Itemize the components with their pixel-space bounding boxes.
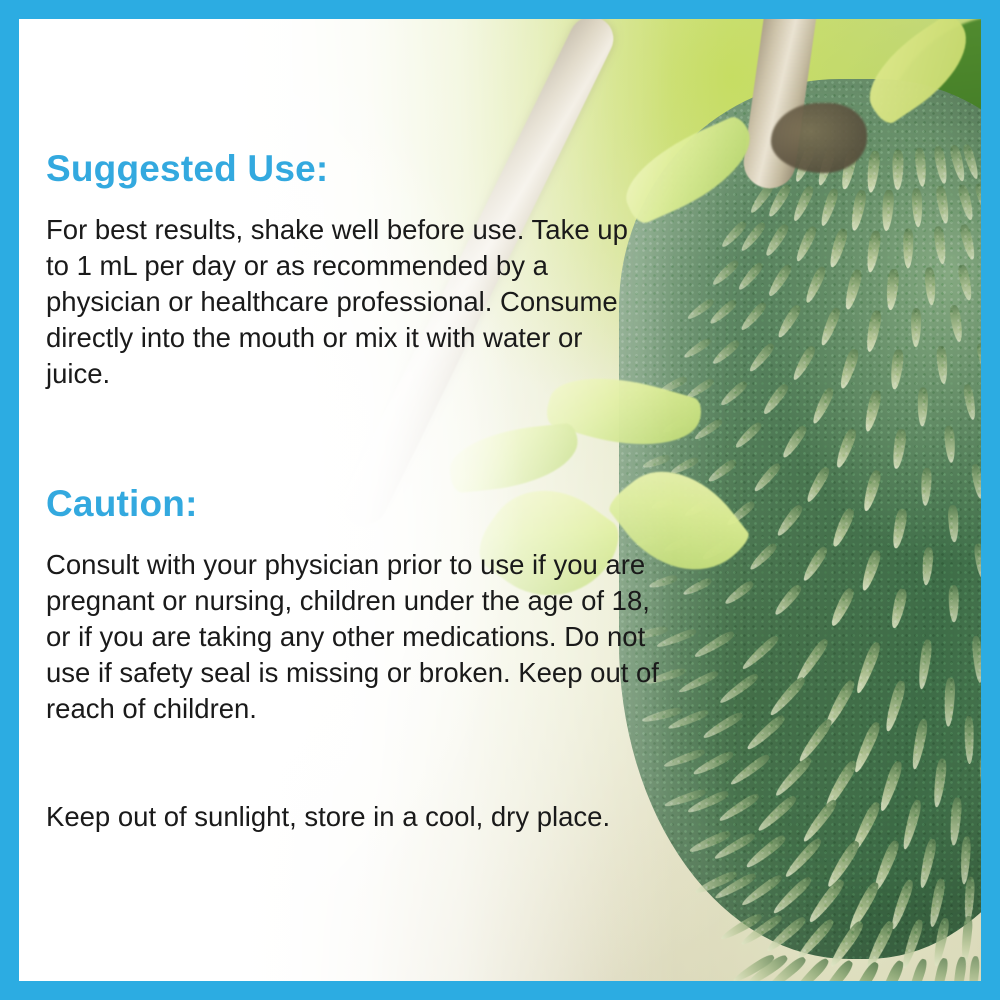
suggested-use-heading: Suggested Use: <box>46 150 328 189</box>
caution-heading: Caution: <box>46 485 198 524</box>
label-copy-block: Suggested Use: For best results, shake w… <box>46 19 686 981</box>
product-label-panel: Suggested Use: For best results, shake w… <box>0 0 1000 1000</box>
suggested-use-body: For best results, shake well before use.… <box>46 212 646 392</box>
storage-instructions-body: Keep out of sunlight, store in a cool, d… <box>46 799 646 835</box>
caution-body: Consult with your physician prior to use… <box>46 547 666 727</box>
white-content-panel: Suggested Use: For best results, shake w… <box>19 19 981 981</box>
